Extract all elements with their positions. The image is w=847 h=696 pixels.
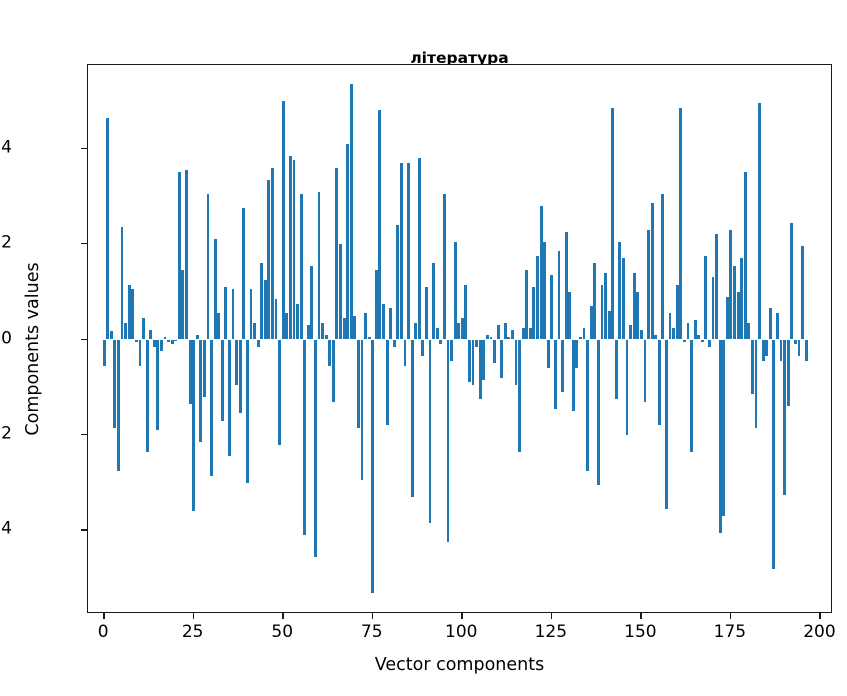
bar [586,340,589,471]
bar [593,263,596,339]
bar [461,318,464,339]
bar [550,275,553,339]
bar [611,108,614,340]
bar [164,337,167,339]
bar [626,340,629,435]
bar [318,192,321,340]
bar [131,289,134,339]
bar [522,328,525,340]
bar [683,340,686,342]
bar [307,325,310,339]
bar [658,340,661,426]
y-tick-label: 4 [0,139,12,156]
bar [396,225,399,340]
bar [572,340,575,412]
bar [203,340,206,397]
bar [400,163,403,340]
bar [447,340,450,543]
bar [801,246,804,339]
bar [253,323,256,340]
bar [282,101,285,340]
x-tick-mark [372,613,373,619]
bar [737,292,740,340]
bar [264,280,267,340]
y-tick-mark [81,148,87,149]
bar [769,308,772,339]
bar [214,239,217,339]
bar [375,270,378,339]
bar [629,325,632,339]
bar [744,172,747,339]
bar [726,297,729,340]
bar [604,273,607,340]
bar [221,340,224,421]
bar [278,340,281,445]
bar [751,340,754,395]
bar [511,330,514,340]
bar [794,340,797,345]
bar [515,340,518,385]
bar [425,287,428,340]
bar [507,337,510,339]
bar [246,340,249,483]
bar [762,340,765,361]
y-tick-label: −2 [0,425,12,442]
y-tick-mark [81,529,87,530]
bar [622,258,625,339]
bar [271,168,274,340]
bars-layer [88,65,831,612]
bar [651,203,654,339]
bar [504,323,507,340]
bar [715,234,718,339]
bar [679,108,682,340]
bar [722,340,725,517]
bar [371,340,374,593]
bar [665,340,668,509]
bar [654,335,657,340]
x-tick-label: 50 [252,622,312,642]
bar [207,194,210,340]
bar [486,335,489,340]
bar [250,289,253,339]
bar [386,340,389,426]
bar [156,340,159,431]
bar [472,340,475,385]
y-axis: Components values −4−2024 [0,0,87,696]
x-axis-label: Vector components [87,655,832,675]
bar [382,304,385,340]
bar [404,340,407,366]
bar [224,287,227,340]
x-tick-label: 75 [342,622,402,642]
x-tick-label: 125 [521,622,581,642]
bar [479,340,482,400]
bar [171,340,174,345]
bar [633,273,636,340]
bar [296,304,299,340]
bar [776,313,779,339]
bar [192,340,195,512]
bar [661,194,664,340]
chart-figure: література ukrconll_upos_cbow_200_10_202… [0,0,847,696]
bar [364,313,367,339]
x-tick-mark [730,613,731,619]
bar [672,328,675,340]
bar [135,340,138,342]
bar [787,340,790,407]
bar [267,180,270,340]
bar [618,242,621,340]
bar [558,251,561,339]
bar [694,320,697,339]
x-tick-label: 175 [700,622,760,642]
bar [321,323,324,340]
bar [697,335,700,340]
bar [719,340,722,533]
bar [540,206,543,340]
bar [378,110,381,339]
bar [644,340,647,402]
bar [346,144,349,340]
bar [669,313,672,339]
bar [121,227,124,339]
bar [421,340,424,357]
bar [755,340,758,428]
bar [676,285,679,340]
bar [110,331,113,340]
x-tick-label: 200 [789,622,847,642]
bar [210,340,213,476]
bar [798,340,801,357]
bar [407,163,410,340]
bar [260,263,263,339]
bar [335,168,338,340]
bar [758,103,761,339]
bar [590,306,593,339]
bar [729,230,732,340]
bar [454,242,457,340]
bar [181,270,184,339]
bar [640,330,643,340]
bar [199,340,202,443]
bar [178,172,181,339]
bar [493,340,496,364]
bar [529,328,532,340]
bar [443,194,446,340]
bar [149,330,152,340]
bar [289,156,292,340]
bar [450,340,453,361]
bar [300,194,303,340]
x-tick-mark [640,613,641,619]
y-tick-label: 0 [0,330,12,347]
bar [525,270,528,339]
bar [414,323,417,340]
bar [436,328,439,340]
bar [500,340,503,378]
bar [565,232,568,339]
bar [167,340,170,342]
x-tick-mark [282,613,283,619]
bar [314,340,317,557]
x-tick-label: 150 [610,622,670,642]
bar [232,289,235,339]
bar [325,335,328,340]
bar [239,340,242,414]
bar [482,340,485,381]
x-tick-mark [193,613,194,619]
x-axis: Vector components 0255075100125150175200 [0,613,847,696]
bar [103,340,106,366]
y-tick-mark [81,339,87,340]
bar [196,335,199,340]
x-tick-label: 0 [73,622,133,642]
bar [490,337,493,339]
bar [106,118,109,340]
bar [780,340,783,361]
bar [690,340,693,452]
bar [357,340,360,428]
bar [543,242,546,340]
bar [783,340,786,495]
bar [704,256,707,340]
bar [411,340,414,498]
bar [343,318,346,339]
bar [339,244,342,339]
x-tick-mark [819,613,820,619]
bar [146,340,149,452]
bar [647,230,650,340]
y-tick-mark [81,434,87,435]
bar [217,313,220,339]
bar [568,292,571,340]
bar [601,285,604,340]
bar [153,340,156,347]
bar [432,263,435,339]
y-tick-label: 2 [0,235,12,252]
bar [189,340,192,404]
bar [464,285,467,340]
bar [532,287,535,340]
bar [597,340,600,486]
y-tick-mark [81,243,87,244]
bar [275,299,278,340]
x-tick-mark [551,613,552,619]
bar [242,208,245,339]
x-tick-mark [103,613,104,619]
bar [772,340,775,569]
bar [547,340,550,369]
bar [418,158,421,339]
bar [575,340,578,369]
x-tick-label: 100 [431,622,491,642]
bar [332,340,335,402]
bar [285,313,288,339]
x-tick-mark [461,613,462,619]
bar [740,258,743,339]
bar [475,340,478,347]
plot-area [87,64,832,613]
bar [124,323,127,340]
bar [393,340,396,347]
bar [608,311,611,340]
bar [113,340,116,428]
bar [636,292,639,340]
bar [353,316,356,340]
y-axis-label: Components values [23,199,43,499]
bar [328,340,331,366]
bar [350,84,353,339]
bar [561,340,564,393]
bar [765,340,768,357]
bar [733,266,736,340]
bar [790,223,793,340]
bar [518,340,521,452]
bar [139,340,142,366]
bar [368,337,371,339]
bar [497,325,500,339]
bar [579,337,582,339]
bar [361,340,364,481]
bar [708,340,711,347]
bar [235,340,238,385]
bar [554,340,557,409]
bar [615,340,618,400]
bar [457,323,460,340]
bar [536,256,539,340]
bar [439,340,442,345]
bar [128,285,131,340]
bar [805,340,808,361]
bar [303,340,306,536]
bar [389,308,392,339]
bar [117,340,120,471]
bar [174,340,177,341]
bar [583,328,586,340]
bar [228,340,231,457]
bar [747,323,750,340]
bar [257,340,260,347]
x-tick-label: 25 [163,622,223,642]
bar [142,318,145,339]
bar [701,340,704,342]
bar [687,323,690,340]
bar [293,160,296,339]
bar [185,170,188,339]
bar [712,277,715,339]
bar [160,340,163,352]
bar [468,340,471,383]
bar [310,266,313,340]
y-tick-label: −4 [0,521,12,538]
bar [429,340,432,524]
